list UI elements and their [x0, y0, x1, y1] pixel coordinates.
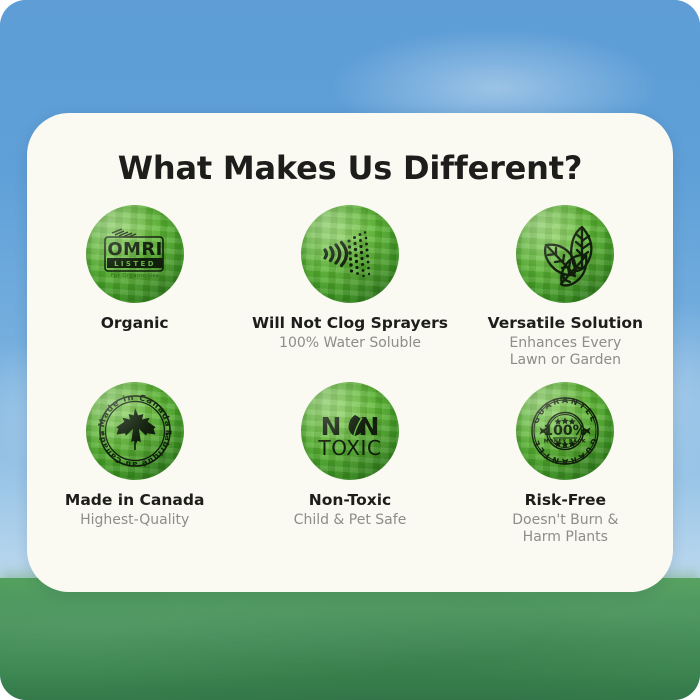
made-in-canada-icon: Made in Canada Fabriqué au Canada	[86, 382, 184, 480]
feature-caption: Made in Canada	[65, 492, 205, 510]
feature-item-made-in-canada: Made in Canada Fabriqué au Canada	[27, 370, 242, 547]
feature-subcaption: Enhances Every Lawn or Garden	[509, 335, 621, 370]
feature-item-risk-free: GUARANTEE GUARANTEE	[458, 370, 673, 547]
grass-texture	[0, 578, 700, 700]
photo-frame: What Makes Us Different?	[0, 0, 700, 700]
money-back-guarantee-icon: GUARANTEE GUARANTEE	[516, 382, 614, 480]
product-infographic: What Makes Us Different?	[0, 0, 700, 700]
feature-caption: Versatile Solution	[488, 315, 644, 333]
feature-subcaption: Highest-Quality	[80, 512, 189, 530]
feature-row: Made in Canada Fabriqué au Canada	[27, 370, 673, 547]
feature-caption: Non-Toxic	[309, 492, 391, 510]
svg-text:OMRI: OMRI	[107, 239, 162, 260]
svg-text:MONEY BACK: MONEY BACK	[544, 438, 586, 444]
feature-card: What Makes Us Different?	[27, 113, 673, 592]
feature-item-organic: OMRI LISTED For Organic Use Organic	[27, 205, 242, 370]
feature-row: OMRI LISTED For Organic Use Organic	[27, 205, 673, 370]
feature-caption: Will Not Clog Sprayers	[252, 315, 448, 333]
non-toxic-icon: N N TOXIC	[301, 382, 399, 480]
svg-text:LISTED: LISTED	[114, 260, 156, 268]
svg-text:100%: 100%	[544, 423, 587, 439]
spray-nozzle-icon	[301, 205, 399, 303]
feature-grid: OMRI LISTED For Organic Use Organic	[27, 205, 673, 547]
three-leaves-icon	[516, 205, 614, 303]
svg-text:TOXIC: TOXIC	[317, 436, 381, 460]
feature-subcaption: Doesn't Burn & Harm Plants	[512, 512, 618, 547]
feature-item-no-clog: Will Not Clog Sprayers 100% Water Solubl…	[242, 205, 457, 370]
feature-item-non-toxic: N N TOXIC Non-Toxic Child & Pet Safe	[242, 370, 457, 547]
feature-item-versatile: Versatile Solution Enhances Every Lawn o…	[458, 205, 673, 370]
svg-text:For Organic Use: For Organic Use	[110, 273, 159, 279]
feature-subcaption: 100% Water Soluble	[279, 335, 421, 353]
feature-subcaption: Child & Pet Safe	[294, 512, 407, 530]
page-title: What Makes Us Different?	[27, 149, 673, 187]
omri-listed-icon: OMRI LISTED For Organic Use	[86, 205, 184, 303]
feature-caption: Organic	[101, 315, 169, 333]
feature-caption: Risk-Free	[525, 492, 606, 510]
